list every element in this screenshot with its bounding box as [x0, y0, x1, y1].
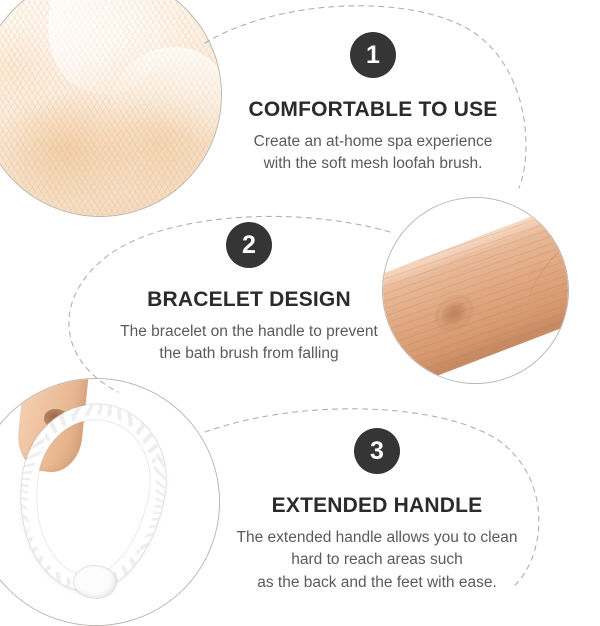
feature-body-line: the bath brush from falling — [110, 343, 388, 365]
infographic-stage: 1 COMFORTABLE TO USE Create an at-home s… — [0, 0, 600, 600]
step-number-badge-2: 2 — [226, 222, 272, 268]
step-number-badge-3: 3 — [354, 428, 400, 474]
feature-section-1: 1 COMFORTABLE TO USE Create an at-home s… — [228, 32, 518, 176]
feature-body-line: The extended handle allows you to clean — [232, 527, 522, 549]
feature-body-line: hard to reach areas such — [232, 549, 522, 571]
feature-body-line: The bracelet on the handle to prevent — [110, 321, 388, 343]
feature-body-line: as the back and the feet with ease. — [232, 572, 522, 594]
feature-section-2: 2 BRACELET DESIGN The bracelet on the ha… — [110, 222, 388, 366]
feature-heading-3: EXTENDED HANDLE — [232, 494, 522, 518]
feature-heading-2: BRACELET DESIGN — [110, 288, 388, 312]
feature-body-line: with the soft mesh loofah brush. — [228, 153, 518, 175]
feature-body-line: Create an at-home spa experience — [228, 131, 518, 153]
step-number-badge-1: 1 — [350, 32, 396, 78]
feature-heading-1: COMFORTABLE TO USE — [228, 98, 518, 122]
feature-section-3: 3 EXTENDED HANDLE The extended handle al… — [232, 428, 522, 594]
